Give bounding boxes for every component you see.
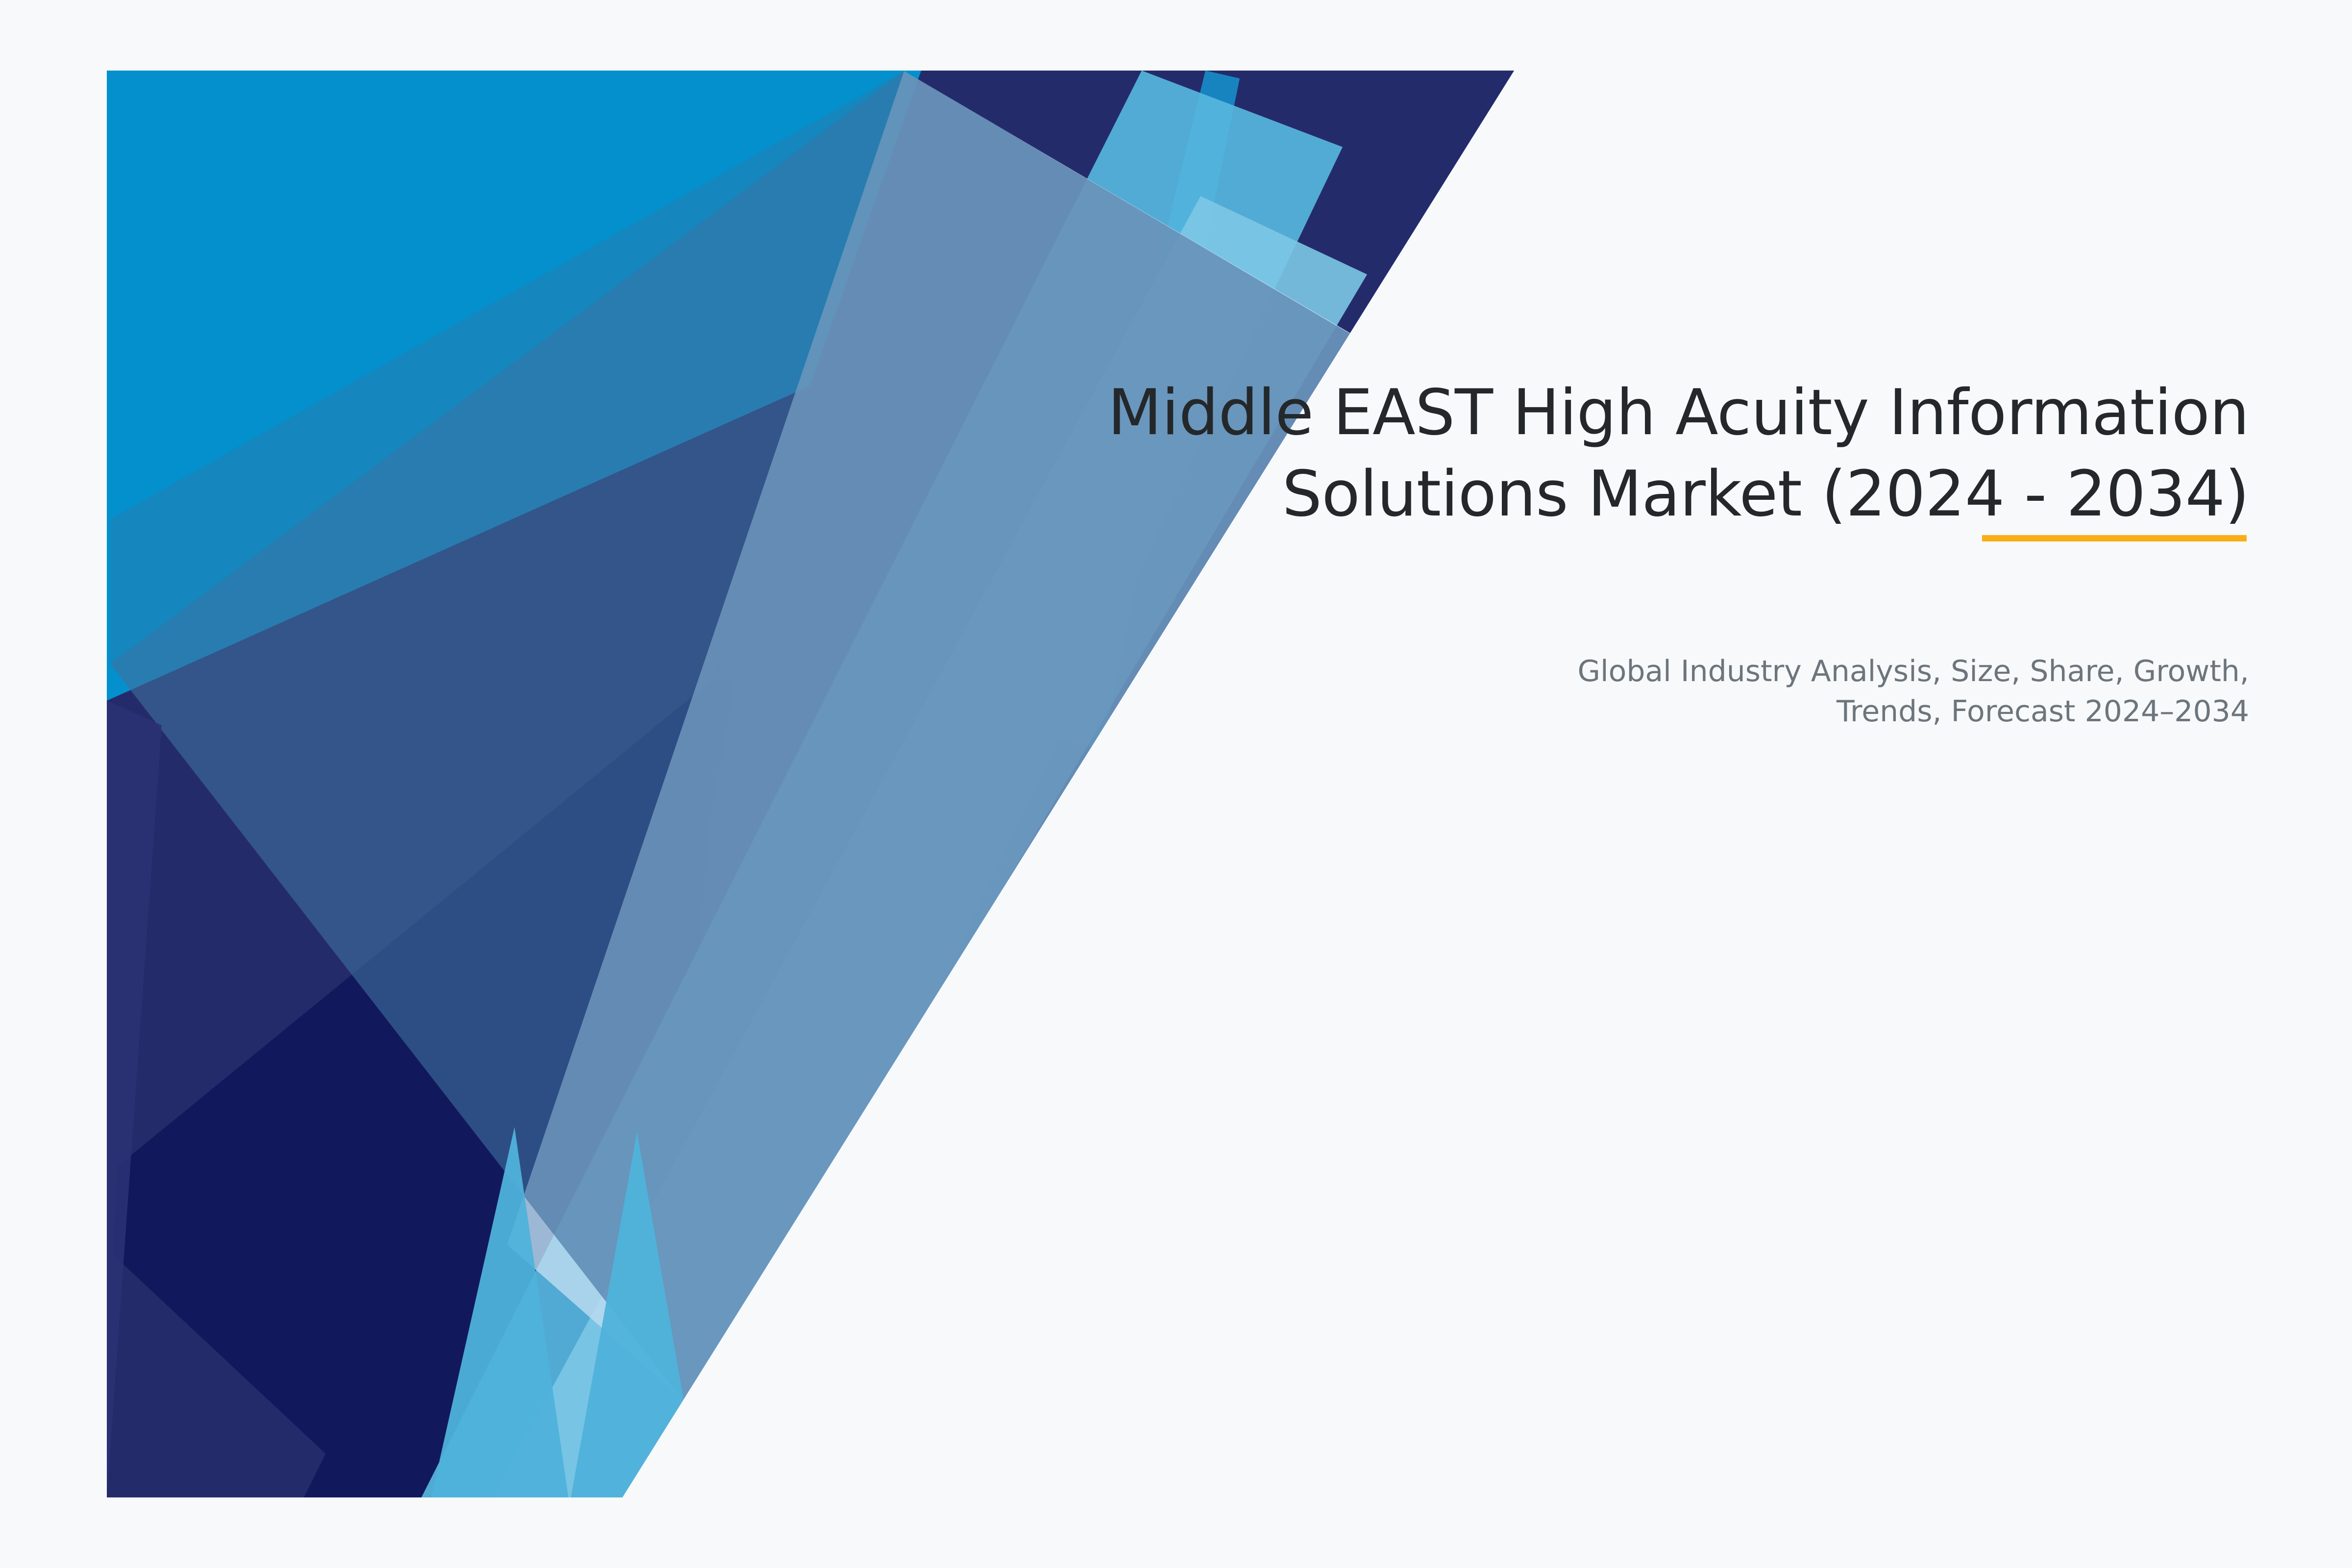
page-subtitle: Global Industry Analysis, Size, Share, G… — [1485, 652, 2249, 732]
shape-slate-blue-quad — [110, 71, 1357, 1423]
shape-sky-blue-band — [421, 71, 1343, 1497]
page-title: Middle EAST High Acuity Information Solu… — [848, 372, 2249, 536]
abstract-geometric-graphic — [0, 0, 2352, 1568]
cover-headline-block: Middle EAST High Acuity Information Solu… — [848, 372, 2249, 536]
shape-cyan-field — [107, 71, 1514, 1497]
report-cover-page: Middle EAST High Acuity Information Solu… — [0, 0, 2352, 1568]
shape-pale-blue-quad — [507, 71, 1367, 1423]
shape-bottom-blue-v-right — [571, 1132, 701, 1497]
shape-navy-wedge — [107, 71, 1514, 1497]
cover-subtitle-block: Global Industry Analysis, Size, Share, G… — [1485, 652, 2249, 732]
title-accent-underline — [1982, 535, 2247, 541]
shape-navy-left-stripe — [107, 701, 162, 1497]
shape-slate-blue-triangle — [110, 71, 904, 664]
shape-bottom-blue-v-left — [431, 1127, 568, 1497]
shape-deep-navy-spike — [304, 666, 735, 1497]
shape-deep-navy-lower — [113, 671, 723, 1497]
cover-artwork — [0, 0, 2352, 1568]
